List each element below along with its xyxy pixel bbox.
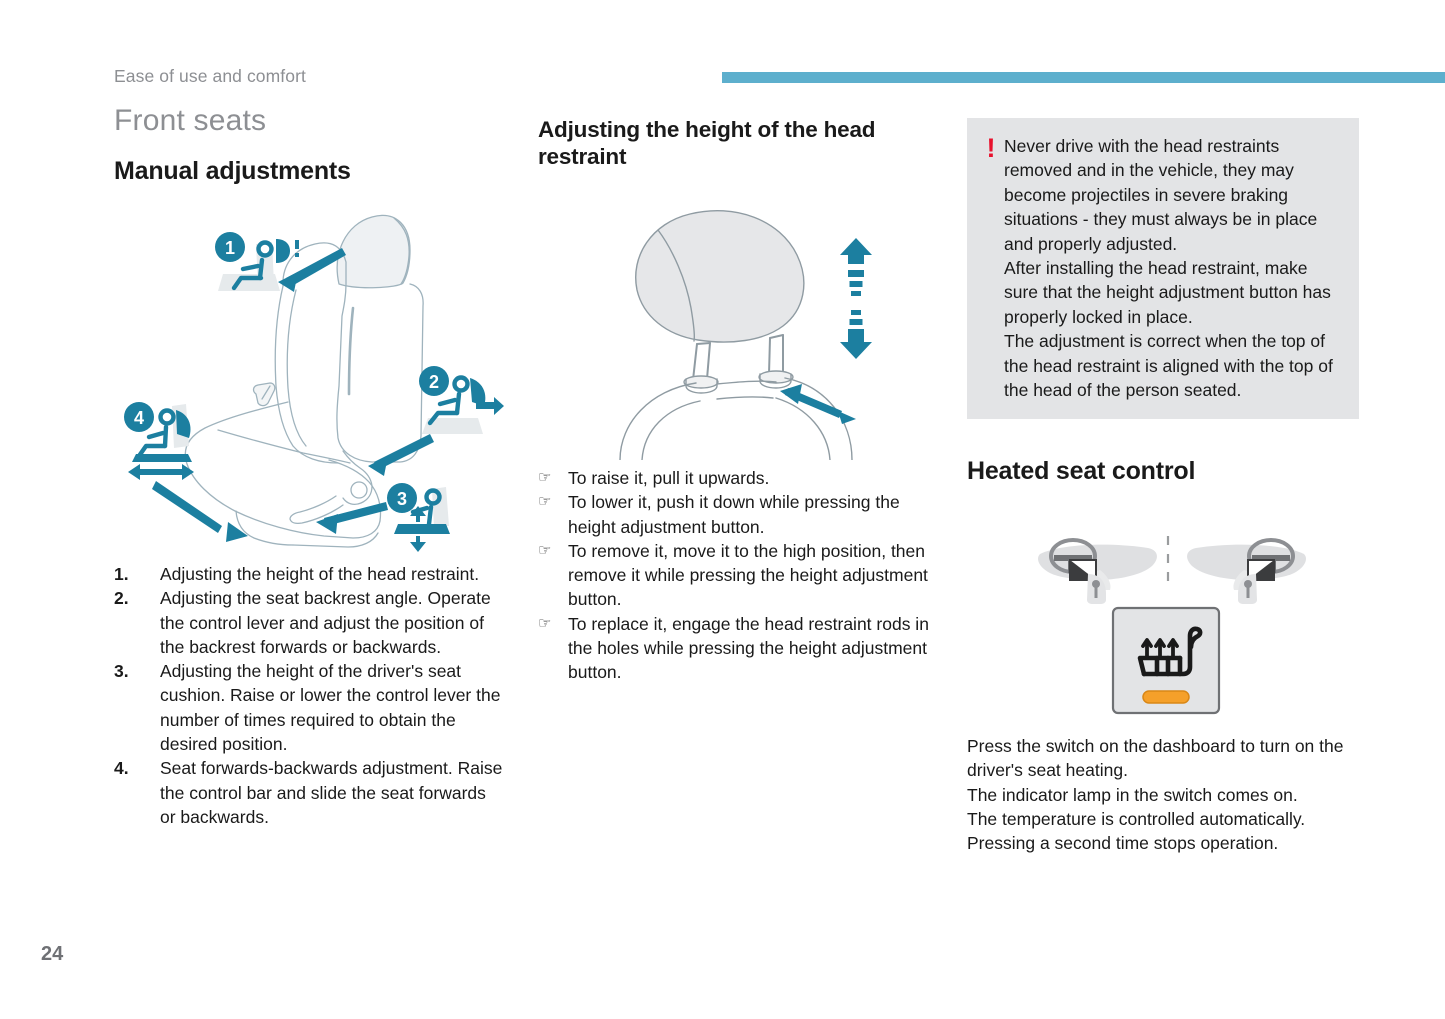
manual-page: Ease of use and comfort 24 Front seats M…	[0, 0, 1445, 1019]
list-item: 1. Adjusting the height of the head rest…	[114, 562, 506, 586]
list-item-number: 1.	[114, 562, 160, 586]
section-heading-head-restraint: Adjusting the height of the head restrai…	[538, 116, 928, 170]
list-item-text: To lower it, push it down while pressing…	[568, 490, 930, 539]
list-item: 2. Adjusting the seat backrest angle. Op…	[114, 586, 506, 659]
heated-seat-instructions: Press the switch on the dashboard to tur…	[967, 734, 1359, 855]
list-item-text: Adjusting the height of the head restrai…	[160, 562, 506, 586]
left-column: Front seats Manual adjustments	[114, 104, 514, 186]
front-seat-diagram: 1 2	[110, 206, 510, 556]
warning-text: Never drive with the head restraints rem…	[1004, 134, 1342, 402]
paragraph: The indicator lamp in the switch comes o…	[967, 783, 1359, 807]
heated-seat-switch-diagram	[1030, 528, 1314, 720]
svg-text:1: 1	[225, 238, 235, 258]
list-item: ☞ To replace it, engage the head restrai…	[538, 612, 930, 685]
list-item: 4. Seat forwards-backwards adjustment. R…	[114, 756, 506, 829]
section-heading-manual-adjustments: Manual adjustments	[114, 157, 514, 186]
list-item-text: Adjusting the height of the driver's sea…	[160, 659, 506, 756]
paragraph: The temperature is controlled automatica…	[967, 807, 1359, 831]
list-item-text: To raise it, pull it upwards.	[568, 466, 930, 490]
header-accent-bar	[722, 72, 1445, 83]
list-item: ☞ To lower it, push it down while pressi…	[538, 490, 930, 539]
warning-paragraph: The adjustment is correct when the top o…	[1004, 329, 1342, 402]
list-item-number: 3.	[114, 659, 160, 683]
svg-text:4: 4	[134, 408, 144, 428]
pointing-hand-icon: ☞	[538, 466, 568, 490]
warning-paragraph: Never drive with the head restraints rem…	[1004, 134, 1342, 256]
paragraph: Pressing a second time stops operation.	[967, 831, 1359, 855]
head-restraint-diagram	[580, 198, 910, 460]
list-item: ☞ To raise it, pull it upwards.	[538, 466, 930, 490]
page-title: Front seats	[114, 104, 514, 139]
list-item-text: To remove it, move it to the high positi…	[568, 539, 930, 612]
warning-callout-box: ! Never drive with the head restraints r…	[967, 118, 1359, 419]
list-item: 3. Adjusting the height of the driver's …	[114, 659, 506, 756]
pointing-hand-icon: ☞	[538, 539, 568, 563]
section-heading-heated-seat: Heated seat control	[967, 457, 1359, 486]
svg-text:3: 3	[397, 489, 407, 509]
paragraph: Press the switch on the dashboard to tur…	[967, 734, 1359, 783]
heated-seat-section: Heated seat control	[967, 457, 1359, 486]
page-number: 24	[41, 943, 63, 966]
list-item: ☞ To remove it, move it to the high posi…	[538, 539, 930, 612]
exclamation-mark-icon: !	[978, 134, 1004, 402]
running-head: Ease of use and comfort	[114, 66, 306, 87]
head-restraint-instructions: ☞ To raise it, pull it upwards. ☞ To low…	[538, 466, 930, 685]
pointing-hand-icon: ☞	[538, 612, 568, 636]
list-item-text: Seat forwards-backwards adjustment. Rais…	[160, 756, 506, 829]
pointing-hand-icon: ☞	[538, 490, 568, 514]
warning-paragraph: After installing the head restraint, mak…	[1004, 256, 1342, 329]
manual-adjustments-list: 1. Adjusting the height of the head rest…	[114, 562, 506, 829]
middle-column: Adjusting the height of the head restrai…	[538, 104, 928, 170]
list-item-number: 2.	[114, 586, 160, 610]
list-item-text: To replace it, engage the head restraint…	[568, 612, 930, 685]
list-item-number: 4.	[114, 756, 160, 780]
svg-text:2: 2	[429, 372, 439, 392]
list-item-text: Adjusting the seat backrest angle. Opera…	[160, 586, 506, 659]
